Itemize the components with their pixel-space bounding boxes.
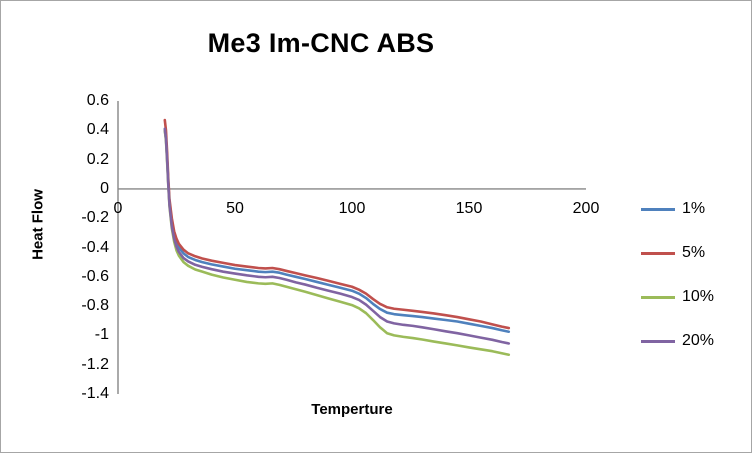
legend-label: 1% [682, 200, 705, 218]
legend-item[interactable]: 1% [641, 187, 751, 231]
legend-swatch-icon [641, 340, 675, 343]
legend-item[interactable]: 10% [641, 275, 751, 319]
legend-swatch-icon [641, 296, 675, 299]
legend-swatch-icon [641, 252, 675, 255]
chart-image: Me3 Im-CNC ABS Heat Flow Temperture 0.60… [0, 0, 752, 453]
x-axis-tick-labels: 050100150200 [1, 1, 752, 453]
legend-label: 10% [682, 288, 714, 306]
x-tick-label: 200 [556, 201, 616, 217]
legend-swatch-icon [641, 208, 675, 211]
x-tick-label: 0 [88, 201, 148, 217]
legend-label: 20% [682, 332, 714, 350]
x-tick-label: 100 [322, 201, 382, 217]
chart-legend: 1%5%10%20% [641, 187, 751, 363]
x-tick-label: 50 [205, 201, 265, 217]
legend-item[interactable]: 20% [641, 319, 751, 363]
x-tick-label: 150 [439, 201, 499, 217]
legend-item[interactable]: 5% [641, 231, 751, 275]
legend-label: 5% [682, 244, 705, 262]
